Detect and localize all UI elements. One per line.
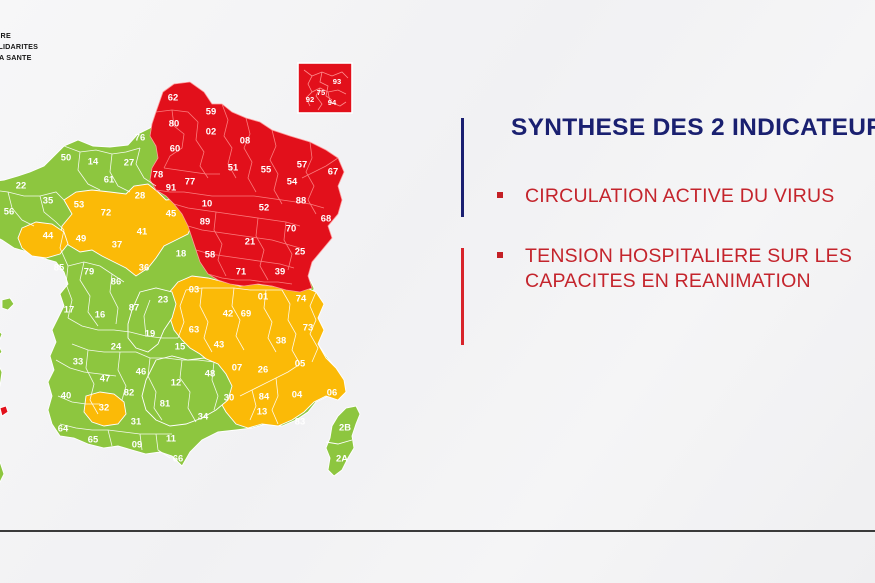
dept-label-08: 08 — [240, 134, 250, 145]
dept-label-67: 67 — [328, 165, 338, 176]
dept-label-68: 68 — [321, 212, 331, 223]
page-title: SYNTHESE DES 2 INDICATEURS — [511, 114, 875, 142]
dept-label-84: 84 — [259, 390, 270, 401]
dept-label-73: 73 — [303, 321, 313, 332]
dept-label-43: 43 — [214, 338, 224, 349]
dept-label-57: 57 — [297, 158, 307, 169]
dept-label-26: 26 — [258, 363, 268, 374]
accent-bar-blue — [461, 118, 464, 217]
dept-label-51: 51 — [228, 161, 238, 172]
dept-label-64: 64 — [58, 422, 69, 433]
dept-label-61: 61 — [104, 173, 114, 184]
dept-label-66: 66 — [173, 452, 183, 463]
dept-label-89: 89 — [200, 215, 210, 226]
dept-label-52: 52 — [259, 201, 269, 212]
dept-label-88: 88 — [296, 194, 306, 205]
corsica-shape — [326, 406, 360, 476]
paris-dept-label-93: 93 — [333, 77, 341, 86]
overseas-971b-shape — [2, 298, 14, 310]
dept-label-69: 69 — [241, 307, 251, 318]
dept-label-40: 40 — [61, 389, 71, 400]
dept-label-76: 76 — [135, 131, 145, 142]
square-bullet-icon — [497, 192, 503, 198]
dept-label-04: 04 — [292, 388, 303, 399]
dept-label-25: 25 — [295, 245, 305, 256]
dept-label-83: 83 — [295, 415, 305, 426]
paris-dept-label-92: 92 — [306, 95, 314, 104]
overseas-974-shape — [0, 456, 4, 490]
dept-label-21: 21 — [245, 235, 255, 246]
dept-label-38: 38 — [276, 334, 286, 345]
dept-label-2B: 2B — [339, 421, 351, 432]
dept-label-39: 39 — [275, 265, 285, 276]
dept-label-42: 42 — [223, 307, 233, 318]
dept-label-78: 78 — [153, 168, 163, 179]
corsica — [326, 406, 360, 476]
dept-label-91: 91 — [166, 181, 176, 192]
indicator-2-label-line2: CAPACITES EN REANIMATION — [525, 269, 852, 294]
dept-label-55: 55 — [261, 163, 271, 174]
dept-label-86: 86 — [111, 275, 121, 286]
dept-label-30: 30 — [224, 391, 234, 402]
dept-label-48: 48 — [205, 367, 215, 378]
paris-dept-label-94: 94 — [328, 98, 337, 107]
dept-label-44: 44 — [43, 229, 54, 240]
dept-label-59: 59 — [206, 105, 216, 116]
overseas-973-shape — [0, 356, 2, 398]
dept-label-47: 47 — [100, 372, 110, 383]
dept-label-72: 72 — [101, 206, 111, 217]
dept-label-07: 07 — [232, 361, 242, 372]
dept-label-62: 62 — [168, 91, 178, 102]
dept-label-22: 22 — [16, 179, 26, 190]
dept-label-53: 53 — [74, 198, 84, 209]
dept-label-37: 37 — [112, 238, 122, 249]
slide-canvas: MINISTERE DES SOLIDARITES ET DE LA SANTE — [0, 0, 875, 583]
dept-label-36: 36 — [139, 261, 149, 272]
dept-label-63: 63 — [189, 323, 199, 334]
dept-label-85: 85 — [54, 261, 64, 272]
dept-label-74: 74 — [296, 292, 307, 303]
overseas-976b-shape — [0, 406, 8, 416]
overseas-972-shape — [0, 322, 2, 362]
dept-label-27: 27 — [124, 156, 134, 167]
dept-label-10: 10 — [202, 197, 212, 208]
paris-dept-label-75: 75 — [317, 88, 326, 97]
dept-label-09: 09 — [132, 438, 142, 449]
dept-label-79: 79 — [84, 265, 94, 276]
dept-label-35: 35 — [43, 194, 53, 205]
dept-label-14: 14 — [88, 155, 99, 166]
dept-label-71: 71 — [236, 265, 246, 276]
dept-label-60: 60 — [170, 142, 180, 153]
france-departments-map: 6259800208605155576778779154528810896870… — [0, 40, 420, 490]
accent-bar-red — [461, 248, 464, 345]
dept-label-58: 58 — [205, 248, 215, 259]
dept-label-02: 02 — [206, 125, 216, 136]
dept-label-32: 32 — [99, 401, 109, 412]
dept-label-15: 15 — [175, 340, 185, 351]
dept-label-24: 24 — [111, 340, 122, 351]
dept-label-31: 31 — [131, 415, 141, 426]
dept-label-18: 18 — [176, 247, 186, 258]
dept-label-65: 65 — [88, 433, 98, 444]
dept-label-49: 49 — [76, 232, 86, 243]
dept-label-13: 13 — [257, 405, 267, 416]
dept-label-19: 19 — [145, 327, 155, 338]
dept-label-46: 46 — [136, 365, 146, 376]
dept-label-2A: 2A — [336, 452, 348, 463]
dept-label-50: 50 — [61, 151, 71, 162]
dept-label-34: 34 — [198, 410, 209, 421]
dept-label-80: 80 — [169, 117, 179, 128]
dept-label-16: 16 — [95, 308, 105, 319]
dept-label-03: 03 — [189, 283, 199, 294]
dept-label-81: 81 — [160, 397, 170, 408]
indicator-1-label: CIRCULATION ACTIVE DU VIRUS — [525, 184, 835, 209]
dept-label-06: 06 — [327, 386, 337, 397]
indicator-2-label-line1: TENSION HOSPITALIERE SUR LES — [525, 244, 852, 269]
dept-label-82: 82 — [124, 386, 134, 397]
dept-label-28: 28 — [135, 189, 145, 200]
dept-label-45: 45 — [166, 207, 176, 218]
indicator-item-1: CIRCULATION ACTIVE DU VIRUS — [497, 184, 835, 209]
footer-divider — [0, 530, 875, 532]
dept-label-56: 56 — [4, 205, 14, 216]
dept-label-70: 70 — [286, 222, 296, 233]
map-svg: 6259800208605155576778779154528810896870… — [0, 40, 420, 490]
dept-label-12: 12 — [171, 376, 181, 387]
dept-label-17: 17 — [64, 303, 74, 314]
overseas-territories — [0, 292, 14, 490]
square-bullet-icon — [497, 252, 503, 258]
dept-label-54: 54 — [287, 175, 298, 186]
indicator-item-2: TENSION HOSPITALIERE SUR LES CAPACITES E… — [497, 244, 852, 294]
dept-label-41: 41 — [137, 225, 147, 236]
dept-label-11: 11 — [166, 432, 176, 443]
dept-label-23: 23 — [158, 293, 168, 304]
dept-label-33: 33 — [73, 355, 83, 366]
dept-label-01: 01 — [258, 290, 268, 301]
dept-label-87: 87 — [129, 301, 139, 312]
dept-label-05: 05 — [295, 357, 305, 368]
dept-label-77: 77 — [185, 175, 195, 186]
